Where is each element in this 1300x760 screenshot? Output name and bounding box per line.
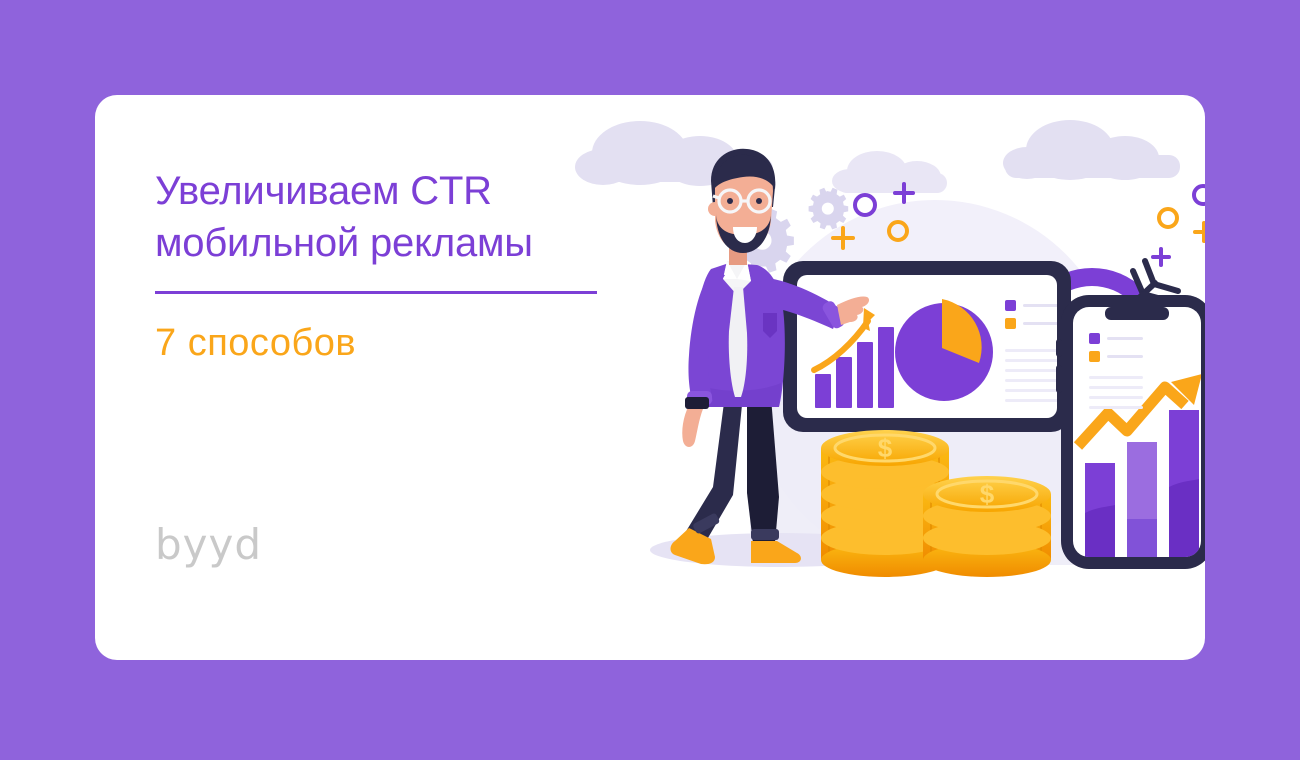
- svg-text:$: $: [980, 479, 995, 509]
- headline-line-1: Увеличиваем CTR: [155, 165, 625, 217]
- decorative-plus: [1193, 221, 1205, 243]
- title-divider: [155, 291, 597, 294]
- illustration: %: [565, 95, 1205, 660]
- cloud-icon: [832, 151, 947, 193]
- coin-stack-short: $: [923, 476, 1051, 577]
- headline-line-2: мобильной рекламы: [155, 217, 625, 269]
- page-title: Увеличиваем CTR мобильной рекламы: [155, 165, 625, 269]
- decorative-circle: [855, 195, 875, 215]
- svg-text:$: $: [878, 433, 893, 463]
- decorative-circle: [1159, 209, 1177, 227]
- subtitle: 7 способов: [155, 322, 625, 365]
- decorative-plus: [1151, 247, 1171, 267]
- headline-block: Увеличиваем CTR мобильной рекламы 7 спос…: [155, 165, 625, 365]
- brand-logo: byyd: [155, 520, 262, 569]
- content-card: Увеличиваем CTR мобильной рекламы 7 спос…: [95, 95, 1205, 660]
- gear-icon: [809, 188, 849, 230]
- decorative-circle: [1194, 186, 1205, 204]
- cloud-icon: [1003, 120, 1180, 180]
